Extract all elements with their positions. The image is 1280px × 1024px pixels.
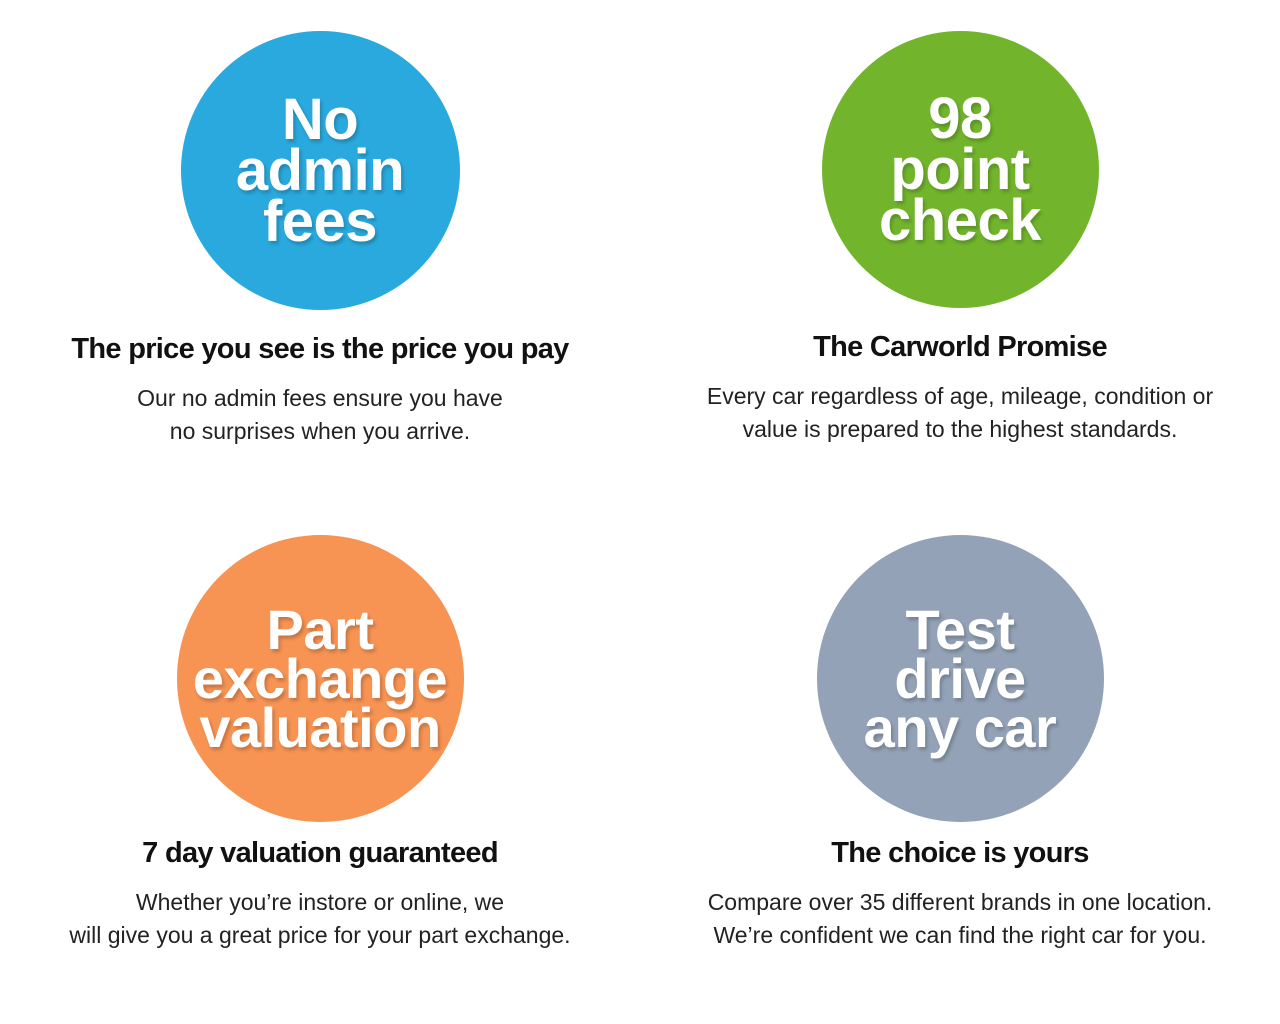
feature-body: Every car regardless of age, mileage, co…	[640, 380, 1280, 445]
features-grid: No admin fees The price you see is the p…	[0, 0, 1280, 1024]
feature-body-line: value is prepared to the highest standar…	[640, 413, 1280, 446]
badge-text: Test drive any car	[795, 605, 1125, 753]
feature-body-line: no surprises when you arrive.	[0, 415, 640, 448]
feature-body: Compare over 35 different brands in one …	[640, 886, 1280, 951]
feature-body-line: Compare over 35 different brands in one …	[640, 886, 1280, 919]
feature-card-part-exchange-valuation: Part exchange valuation 7 day valuation …	[0, 512, 640, 1024]
feature-heading: The Carworld Promise	[640, 332, 1280, 364]
badge-line: any car	[864, 703, 1057, 752]
badge-text: Part exchange valuation	[155, 605, 485, 753]
badge-line: valuation	[199, 703, 440, 752]
feature-heading: 7 day valuation guaranteed	[0, 838, 640, 870]
feature-heading: The price you see is the price you pay	[0, 334, 640, 366]
badge-line: fees	[263, 196, 377, 247]
feature-body-line: Whether you’re instore or online, we	[0, 886, 640, 919]
feature-body-line: We’re confident we can find the right ca…	[640, 919, 1280, 952]
feature-body-line: Our no admin fees ensure you have	[0, 382, 640, 415]
feature-card-test-drive-any-car: Test drive any car The choice is yours C…	[640, 512, 1280, 1024]
badge-text: 98 point check	[795, 93, 1125, 246]
feature-card-98-point-check: 98 point check The Carworld Promise Ever…	[640, 0, 1280, 512]
badge-circle-grey: Test drive any car	[817, 535, 1104, 822]
feature-body: Whether you’re instore or online, we wil…	[0, 886, 640, 951]
feature-body-line: Every car regardless of age, mileage, co…	[640, 380, 1280, 413]
badge-text: No admin fees	[155, 94, 485, 247]
feature-body: Our no admin fees ensure you have no sur…	[0, 382, 640, 447]
feature-body-line: will give you a great price for your par…	[0, 919, 640, 952]
badge-circle-green: 98 point check	[822, 31, 1099, 308]
feature-heading: The choice is yours	[640, 838, 1280, 870]
badge-circle-orange: Part exchange valuation	[177, 535, 464, 822]
badge-line: check	[879, 195, 1041, 246]
feature-card-no-admin-fees: No admin fees The price you see is the p…	[0, 0, 640, 512]
badge-circle-blue: No admin fees	[181, 31, 460, 310]
